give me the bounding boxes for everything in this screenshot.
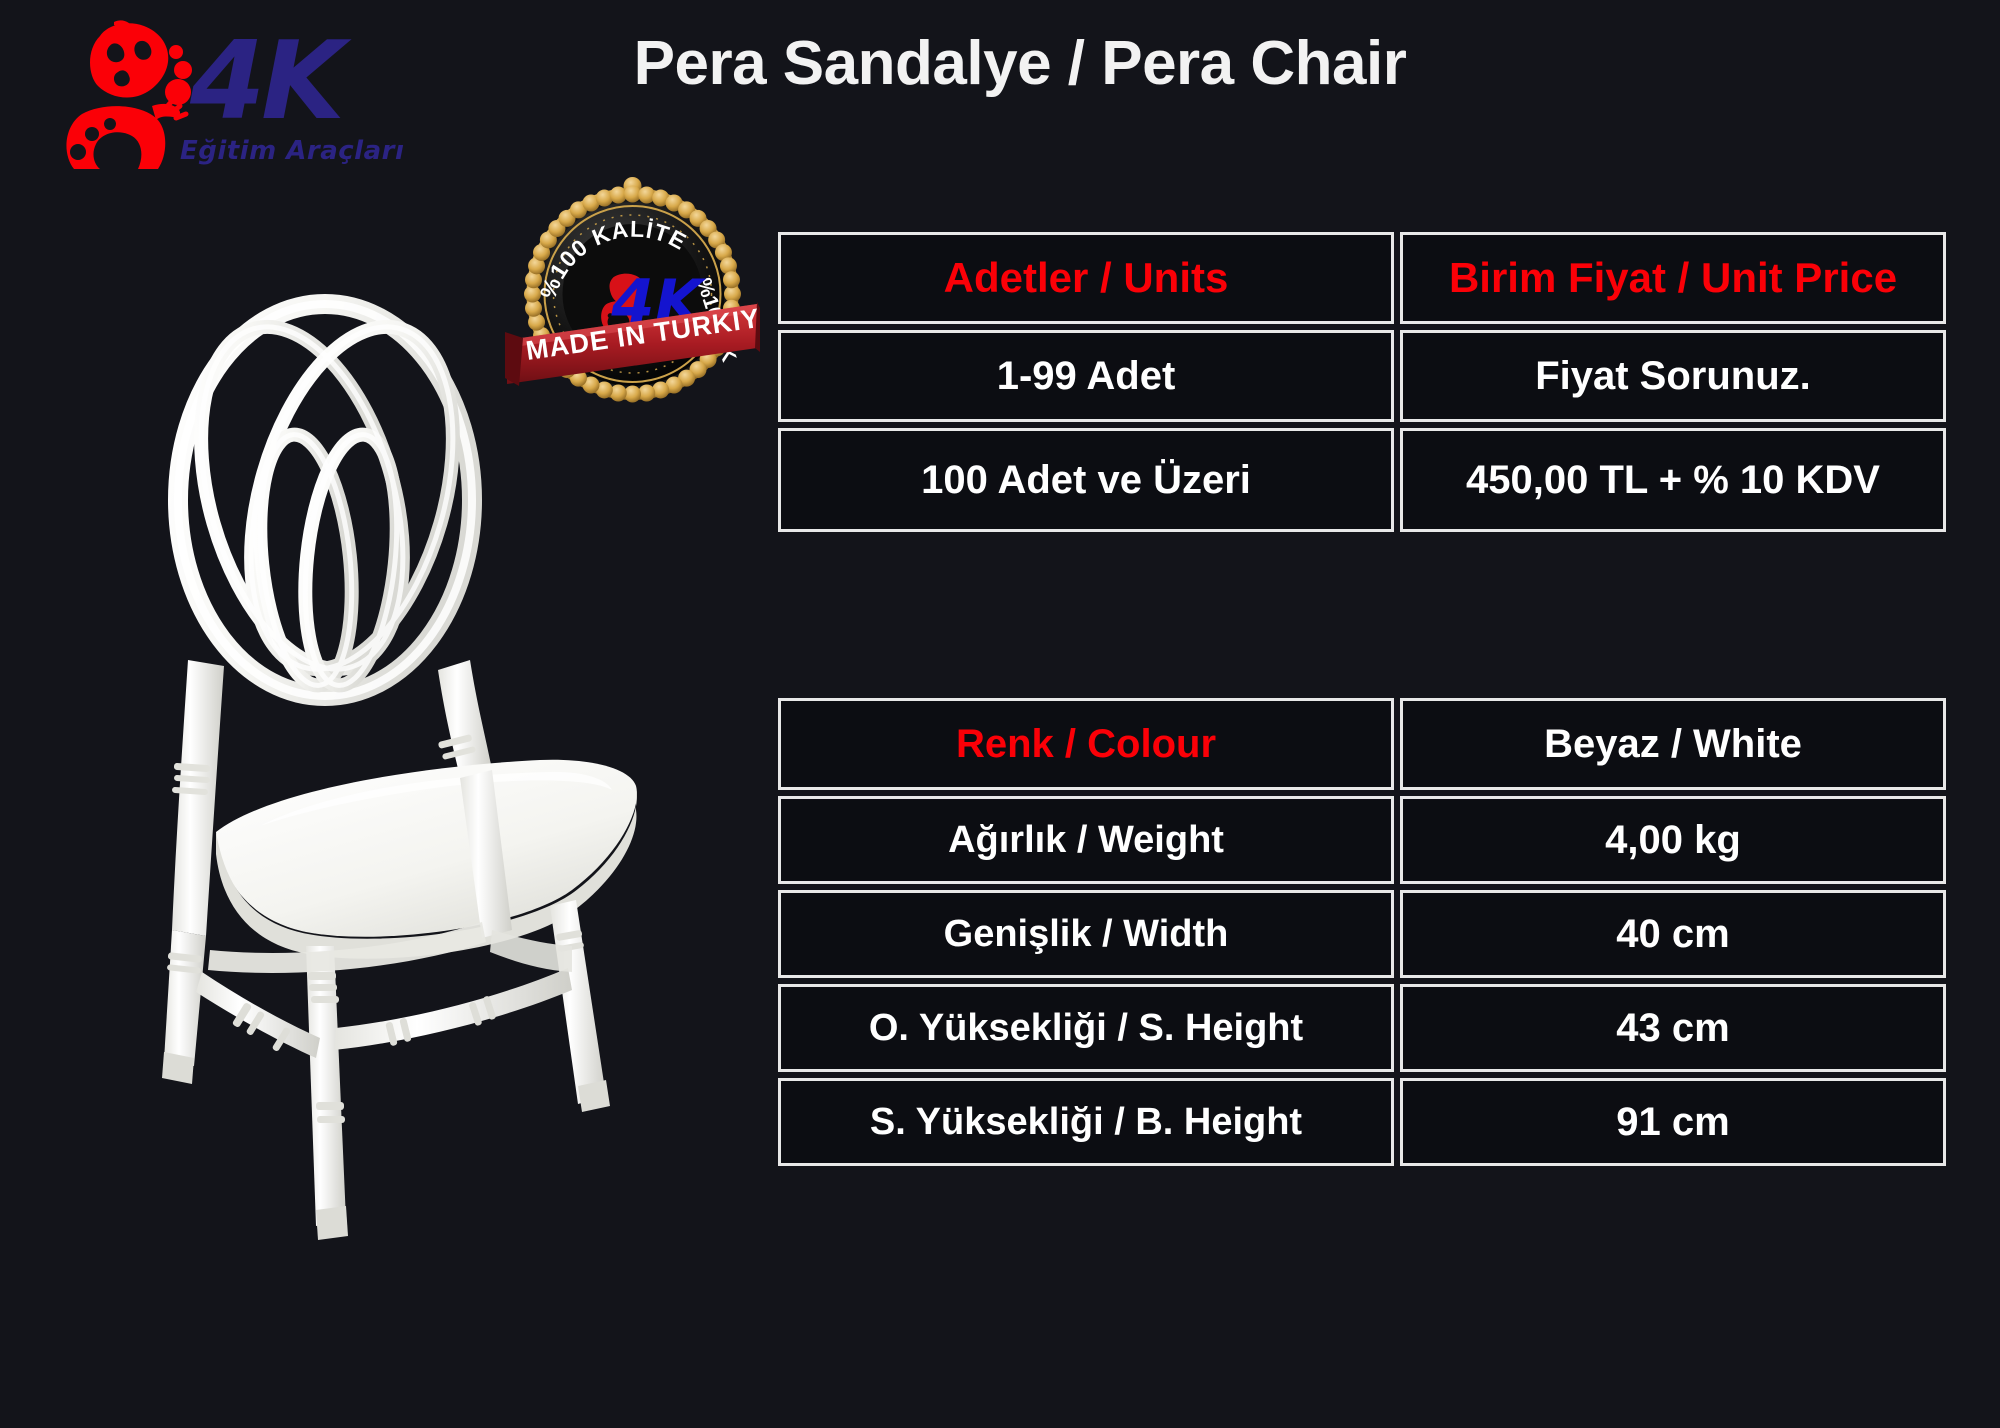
table-row: Ağırlık / Weight 4,00 kg	[778, 796, 1946, 884]
header-units: Adetler / Units	[778, 232, 1394, 324]
units-range: 100 Adet ve Üzeri	[778, 428, 1394, 532]
table-header-row: Renk / Colour Beyaz / White	[778, 698, 1946, 790]
table-row: O. Yüksekliği / S. Height 43 cm	[778, 984, 1946, 1072]
unit-price-value: Fiyat Sorunuz.	[1400, 330, 1946, 422]
spec-label-width: Genişlik / Width	[778, 890, 1394, 978]
table-row: Genişlik / Width 40 cm	[778, 890, 1946, 978]
table-row: 100 Adet ve Üzeri 450,00 TL + % 10 KDV	[778, 428, 1946, 532]
spec-label-weight: Ağırlık / Weight	[778, 796, 1394, 884]
spec-value-back-height: 91 cm	[1400, 1078, 1946, 1166]
product-info-card: 4K Eğitim Araçları Pera Sandalye / Pera …	[0, 0, 2000, 1428]
spec-label-back-height: S. Yüksekliği / B. Height	[778, 1078, 1394, 1166]
table-row: 1-99 Adet Fiyat Sorunuz.	[778, 330, 1946, 422]
spec-label-seat-height: O. Yüksekliği / S. Height	[778, 984, 1394, 1072]
logo-tagline: Eğitim Araçları	[180, 136, 404, 166]
units-range: 1-99 Adet	[778, 330, 1394, 422]
logo-wordmark: 4K	[190, 28, 341, 136]
header-unit-price: Birim Fiyat / Unit Price	[1400, 232, 1946, 324]
colour-value: Beyaz / White	[1400, 698, 1946, 790]
specifications-table: Renk / Colour Beyaz / White Ağırlık / We…	[778, 698, 1946, 1166]
spec-value-weight: 4,00 kg	[1400, 796, 1946, 884]
table-header-row: Adetler / Units Birim Fiyat / Unit Price	[778, 232, 1946, 324]
pera-chair-photo	[120, 230, 660, 1290]
table-row: S. Yüksekliği / B. Height 91 cm	[778, 1078, 1946, 1166]
spec-value-width: 40 cm	[1400, 890, 1946, 978]
page-title: Pera Sandalye / Pera Chair	[560, 28, 1480, 99]
spec-value-seat-height: 43 cm	[1400, 984, 1946, 1072]
header-colour: Renk / Colour	[778, 698, 1394, 790]
pricing-table: Adetler / Units Birim Fiyat / Unit Price…	[778, 232, 1946, 532]
brand-logo: 4K Eğitim Araçları	[52, 14, 352, 174]
unit-price-value: 450,00 TL + % 10 KDV	[1400, 428, 1946, 532]
